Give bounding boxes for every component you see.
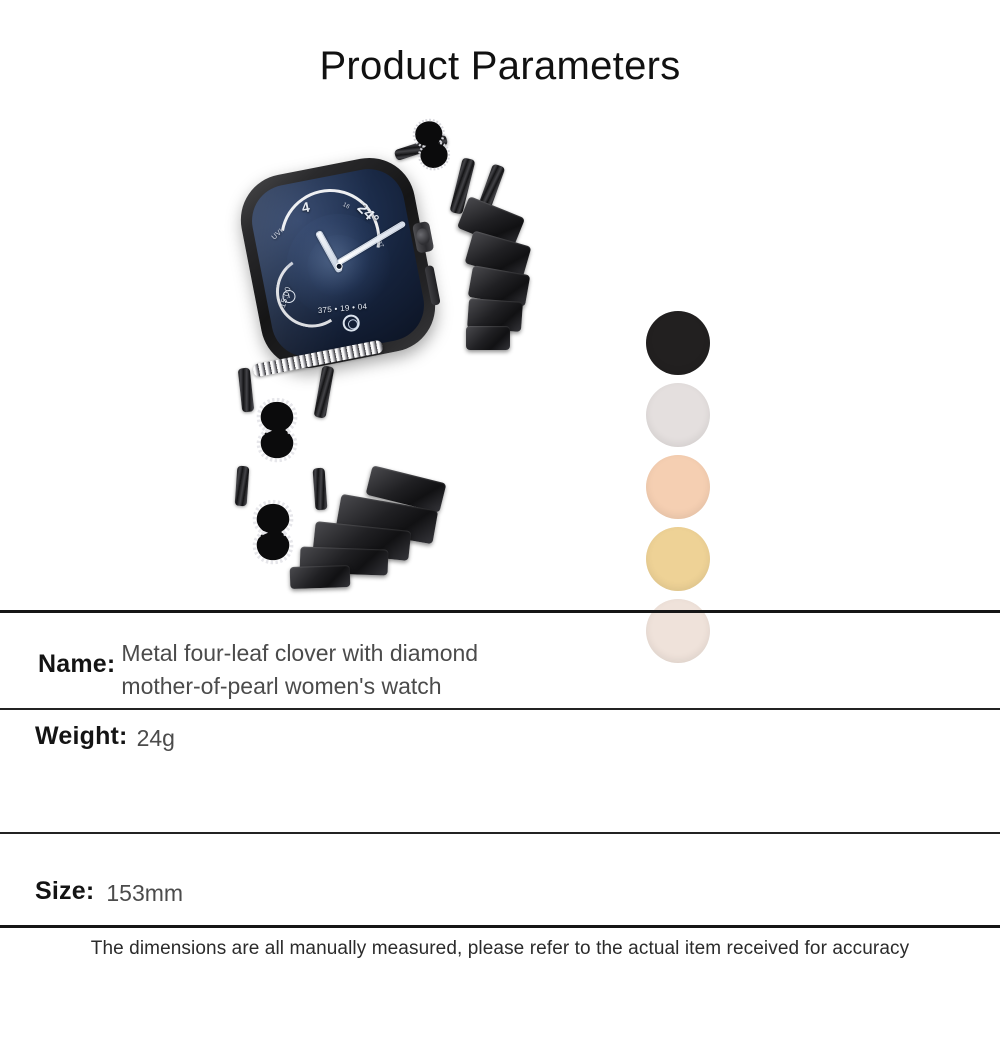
label-size: Size: bbox=[35, 877, 94, 906]
cell-size: Size: 153mm bbox=[0, 834, 545, 925]
label-name: Name: bbox=[38, 650, 115, 679]
side-button bbox=[424, 265, 440, 306]
spec-table: Name: Metal four-leaf clover with diamon… bbox=[0, 610, 1000, 928]
value-name: Metal four-leaf clover with diamond moth… bbox=[121, 637, 478, 702]
band-link-u5 bbox=[466, 326, 510, 350]
band-chain-lower-mid bbox=[314, 365, 335, 418]
disclaimer-note: The dimensions are all manually measured… bbox=[0, 938, 1000, 960]
color-swatch-silver[interactable] bbox=[646, 383, 710, 447]
cell-application: Application: Apple Watch Series 1-9 Appl… bbox=[545, 710, 1000, 832]
clasp-tail bbox=[290, 565, 351, 589]
watch-screen: UVI 4 16 24° 37 15:00 375 • 19 • 04 bbox=[246, 163, 430, 363]
value-name-line-1: Metal four-leaf clover with diamond bbox=[121, 637, 478, 670]
table-row-weight: Weight: 24g Application: Apple Watch Ser… bbox=[0, 710, 1000, 832]
band-chain-lower-mid-2 bbox=[313, 468, 328, 511]
color-swatch-black[interactable] bbox=[646, 311, 710, 375]
cell-material: Material: zinc alloy bbox=[545, 613, 1000, 708]
table-rule-bottom bbox=[0, 925, 1000, 928]
table-row-size: Size: 153mm bbox=[0, 834, 1000, 925]
value-weight: 24g bbox=[137, 722, 175, 755]
clover-shape-icon bbox=[236, 498, 310, 572]
table-row-name: Name: Metal four-leaf clover with diamon… bbox=[0, 613, 1000, 708]
color-swatch-rose-gold[interactable] bbox=[646, 455, 710, 519]
cell-name: Name: Metal four-leaf clover with diamon… bbox=[0, 613, 545, 708]
value-size: 153mm bbox=[106, 877, 183, 910]
clover-charm-lower bbox=[236, 498, 310, 572]
product-photo-watch: UVI 4 16 24° 37 15:00 375 • 19 • 04 bbox=[218, 120, 598, 590]
clover-shape-icon bbox=[240, 396, 314, 470]
page-title: Product Parameters bbox=[0, 44, 1000, 89]
clover-charm-middle bbox=[240, 396, 314, 470]
value-size-line-1: 153mm bbox=[106, 877, 183, 910]
value-name-line-2: mother-of-pearl women's watch bbox=[121, 670, 478, 703]
value-weight-line-1: 24g bbox=[137, 722, 175, 755]
cell-empty bbox=[545, 834, 1000, 925]
color-swatch-gold[interactable] bbox=[646, 527, 710, 591]
product-image-area: UVI 4 16 24° 37 15:00 375 • 19 • 04 bbox=[0, 115, 1000, 605]
label-weight: Weight: bbox=[35, 722, 128, 751]
cell-weight: Weight: 24g bbox=[0, 710, 545, 832]
digital-crown bbox=[412, 221, 434, 254]
